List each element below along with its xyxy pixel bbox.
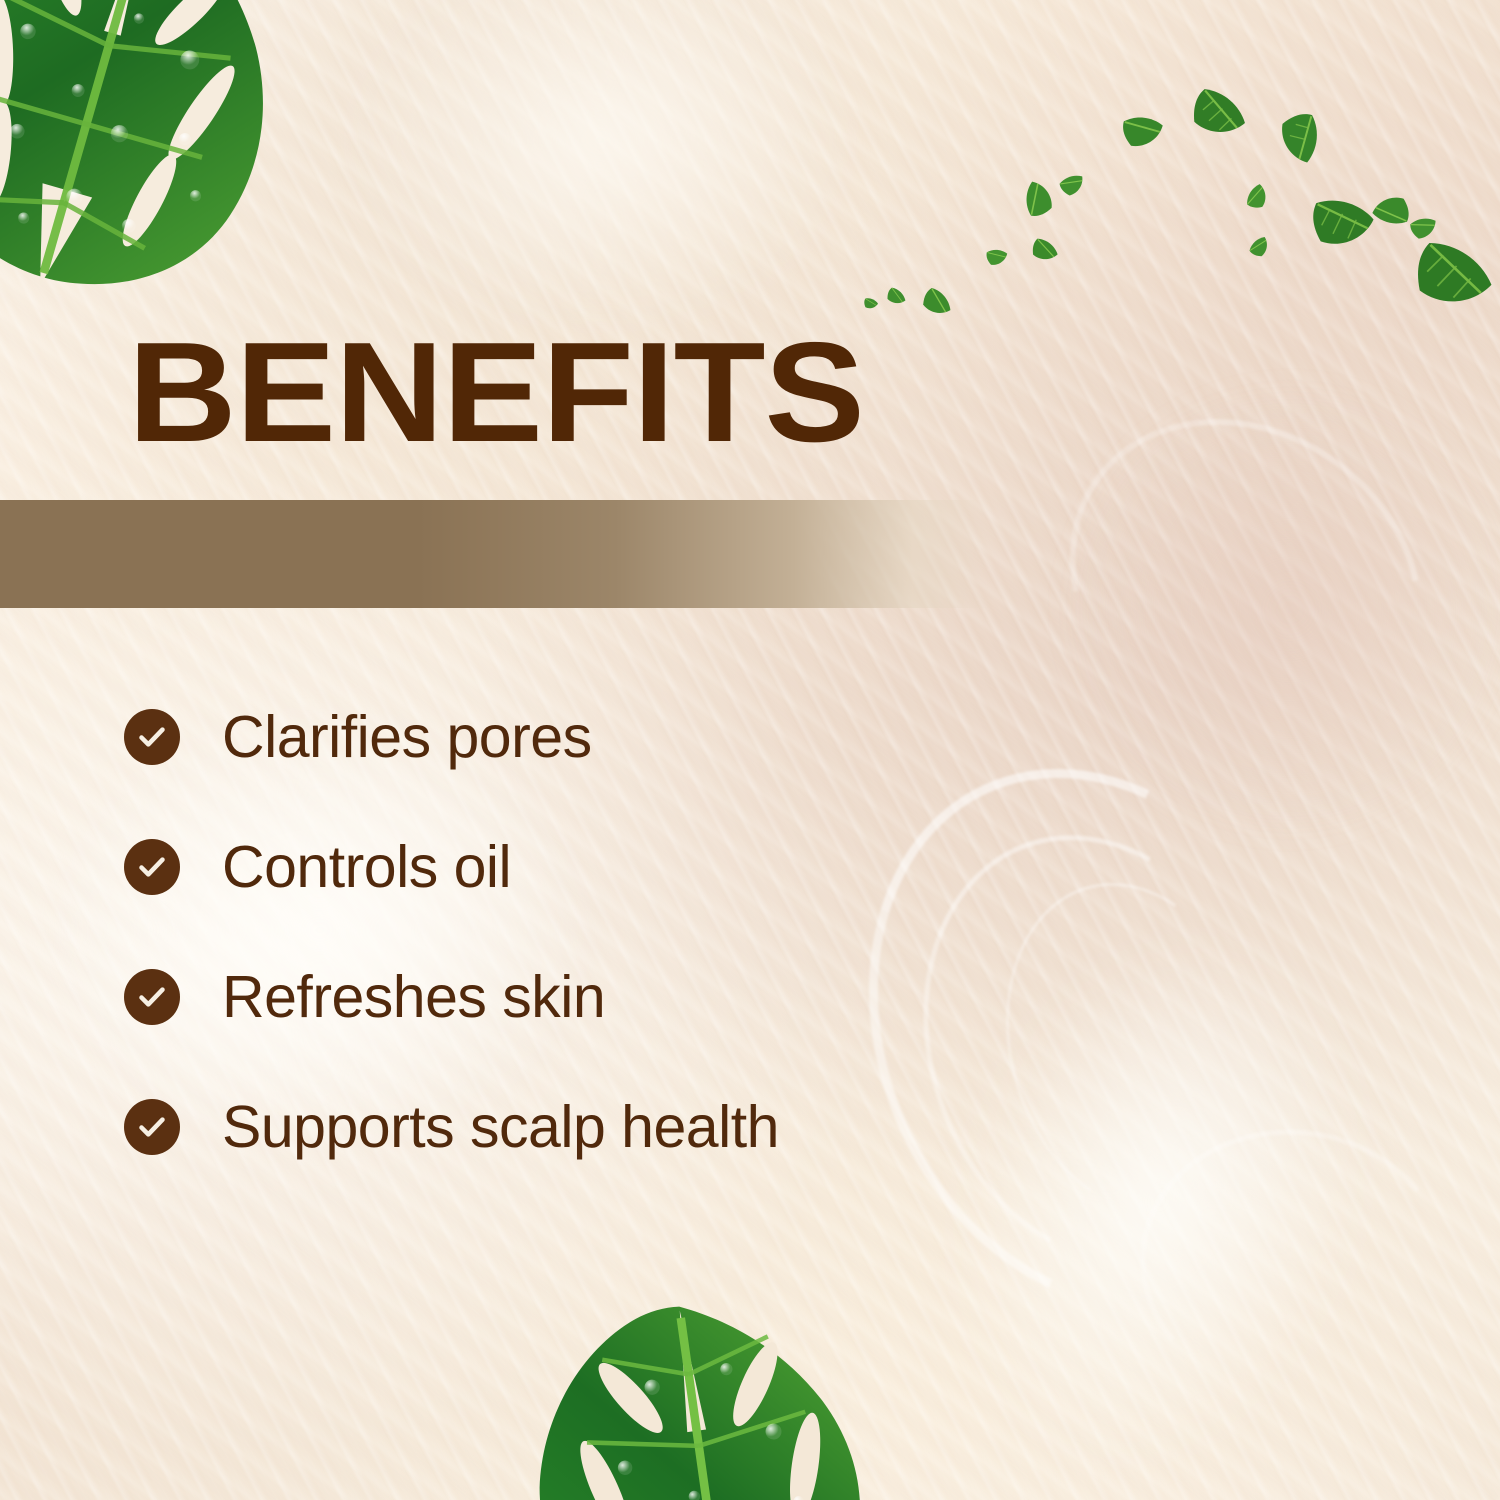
list-item: Clarifies pores <box>124 672 1124 802</box>
check-circle-icon <box>124 709 180 765</box>
check-circle-icon <box>124 839 180 895</box>
list-item: Supports scalp health <box>124 1062 1124 1192</box>
page-title: BENEFITS <box>128 322 864 464</box>
check-circle-icon <box>124 1099 180 1155</box>
benefit-label: Supports scalp health <box>222 1098 779 1157</box>
benefit-label: Clarifies pores <box>222 708 592 767</box>
header-divider-bar <box>0 500 992 608</box>
benefits-poster: BENEFITS Clarifies pores Controls oil Re… <box>0 0 1500 1500</box>
benefits-list: Clarifies pores Controls oil Refreshes s… <box>124 672 1124 1192</box>
check-circle-icon <box>124 969 180 1025</box>
benefit-label: Controls oil <box>222 838 511 897</box>
list-item: Controls oil <box>124 802 1124 932</box>
benefit-label: Refreshes skin <box>222 968 605 1027</box>
list-item: Refreshes skin <box>124 932 1124 1062</box>
